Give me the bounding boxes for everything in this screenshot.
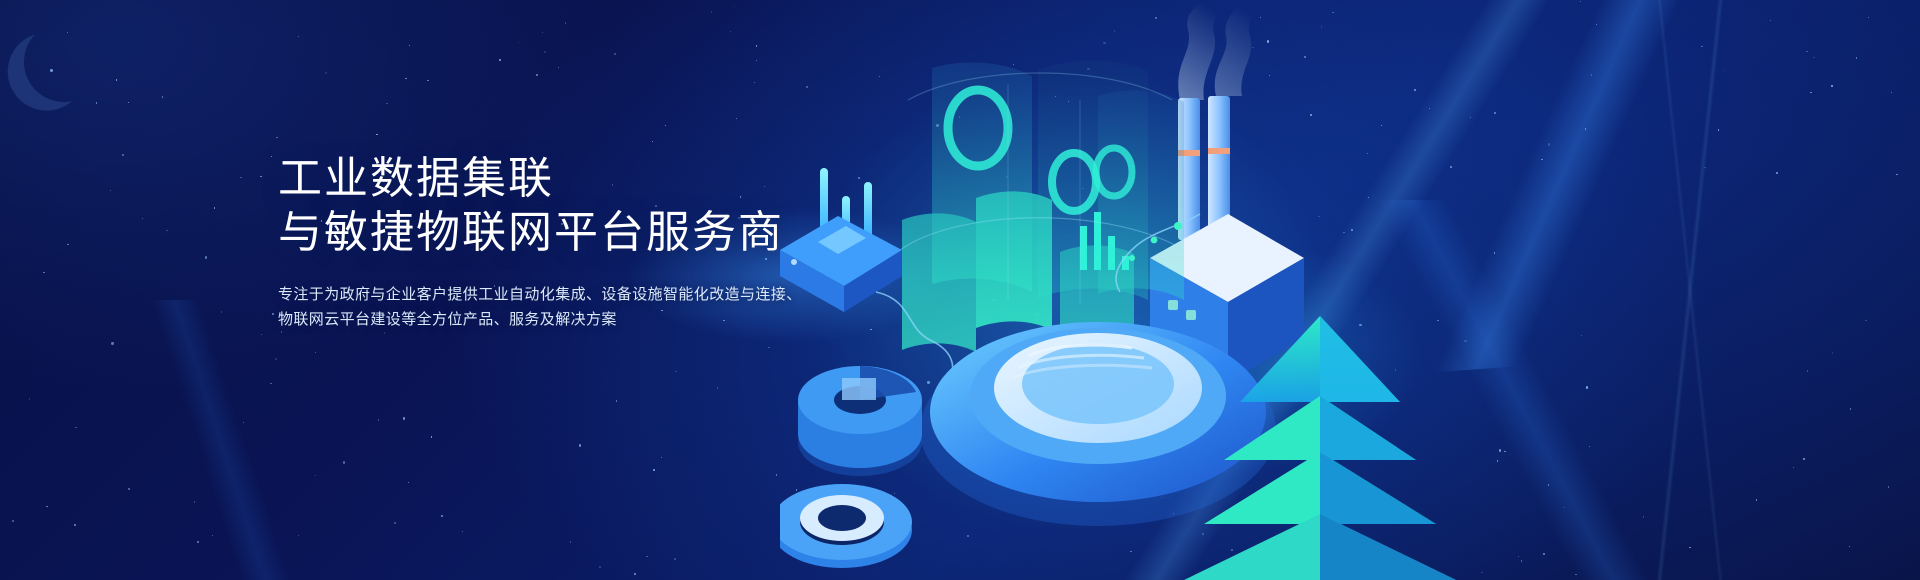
subtitle-line-1: 专注于为政府与企业客户提供工业自动化集成、设备设施智能化改造与连接、 <box>278 282 798 307</box>
star-dot <box>565 22 566 23</box>
star-dot <box>271 156 272 157</box>
star-dot <box>221 311 222 312</box>
star-dot <box>674 558 675 559</box>
star-dot <box>43 272 44 273</box>
star-dot <box>675 371 676 372</box>
star-dot <box>653 469 654 470</box>
iot-illustration <box>780 0 1920 580</box>
star-dot <box>270 383 271 384</box>
star-dot <box>403 417 405 419</box>
star-dot <box>240 177 241 178</box>
star-dot <box>754 82 755 83</box>
star-dot <box>67 244 68 245</box>
star-dot <box>652 141 653 142</box>
ring-segment-chart <box>798 366 922 476</box>
star-dot <box>298 535 299 536</box>
subtitle-line-2: 物联网云平台建设等全方位产品、服务及解决方案 <box>278 307 798 332</box>
star-dot <box>405 78 406 79</box>
star-dot <box>734 6 735 7</box>
smokestack-smoke <box>1178 0 1266 100</box>
star-dot <box>116 79 117 80</box>
star-dot <box>298 36 299 37</box>
star-dot <box>409 45 410 46</box>
star-dot <box>558 67 559 68</box>
star-dot <box>462 531 463 532</box>
star-dot <box>431 436 432 437</box>
star-dot <box>616 400 617 401</box>
star-dot <box>730 31 731 32</box>
star-dot <box>427 80 428 81</box>
star-dot <box>536 74 538 76</box>
star-dot <box>315 475 316 476</box>
star-dot <box>205 256 207 258</box>
headline-line-2: 与敏捷物联网平台服务商 <box>278 208 784 257</box>
star-dot <box>378 419 379 420</box>
star-dot <box>408 482 409 483</box>
star-dot <box>499 59 500 60</box>
star-dot <box>614 53 615 54</box>
star-dot <box>518 42 519 43</box>
star-dot <box>665 125 666 126</box>
star-dot <box>111 342 113 344</box>
crescent-moon-icon <box>15 13 114 112</box>
star-dot <box>394 522 395 523</box>
star-dot <box>756 60 757 61</box>
star-dot <box>384 332 385 333</box>
star-dot <box>343 461 345 463</box>
star-dot <box>276 137 277 138</box>
light-sweep-bottom-left <box>0 300 580 580</box>
star-dot <box>96 102 97 103</box>
star-dot <box>46 506 47 507</box>
star-dot <box>272 313 273 314</box>
hero-copy-block: 工业数据集联 与敏捷物联网平台服务商 专注于为政府与企业客户提供工业自动化集成、… <box>278 152 838 332</box>
star-dot <box>579 444 581 446</box>
star-dot <box>29 398 30 399</box>
star-dot <box>74 524 76 526</box>
star-dot <box>261 334 262 335</box>
star-dot <box>128 488 129 489</box>
star-dot <box>214 207 215 208</box>
headline-line-1: 工业数据集联 <box>278 154 554 203</box>
star-dot <box>386 103 387 104</box>
star-dot <box>717 387 718 388</box>
star-dot <box>711 11 712 12</box>
ring-platform <box>780 484 912 568</box>
cloud-disc-platform <box>920 322 1276 526</box>
star-dot <box>243 422 244 423</box>
page-title: 工业数据集联 与敏捷物联网平台服务商 <box>278 152 838 260</box>
star-dot <box>12 520 14 522</box>
star-dot <box>376 134 377 135</box>
star-dot <box>275 358 277 360</box>
hero-subtitle: 专注于为政府与企业客户提供工业自动化集成、设备设施智能化改造与连接、 物联网云平… <box>278 282 798 332</box>
star-dot <box>166 230 167 231</box>
star-dot <box>634 573 636 575</box>
star-dot <box>646 556 647 557</box>
star-dot <box>736 118 737 119</box>
star-dot <box>162 96 163 97</box>
star-dot <box>776 474 777 475</box>
star-dot <box>260 176 261 177</box>
star-dot <box>544 51 546 53</box>
star-dot <box>122 154 123 155</box>
star-dot <box>197 541 199 543</box>
star-dot <box>441 515 442 516</box>
star-dot <box>315 352 316 353</box>
star-dot <box>570 541 571 542</box>
star-dot <box>661 457 662 458</box>
star-dot <box>194 501 195 502</box>
hero-banner: 工业数据集联 与敏捷物联网平台服务商 专注于为政府与企业客户提供工业自动化集成、… <box>0 0 1920 580</box>
star-dot <box>599 566 601 568</box>
star-dot <box>325 72 327 74</box>
star-dot <box>128 102 129 103</box>
star-dot <box>212 535 213 536</box>
star-dot <box>75 427 76 428</box>
star-dot <box>756 45 757 46</box>
star-dot <box>142 218 143 219</box>
star-dot <box>542 32 543 33</box>
star-dot <box>110 190 111 191</box>
